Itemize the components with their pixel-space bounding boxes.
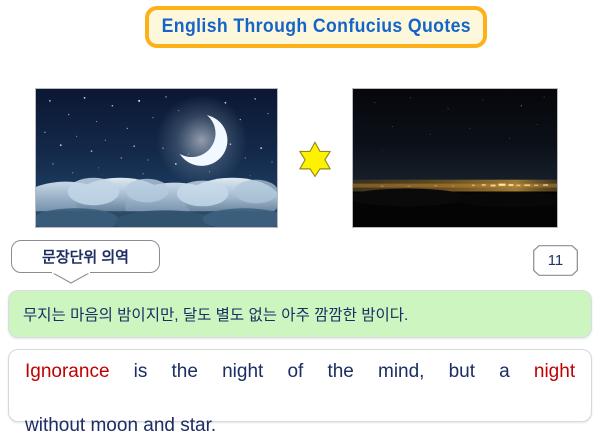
page-title: English Through Confucius Quotes: [161, 16, 470, 38]
dark-night-horizon-photo: [352, 88, 558, 228]
korean-translation-box: 무지는 마음의 밤이지만, 달도 별도 없는 아주 깜깜한 밤이다.: [8, 290, 592, 338]
crescent-moon-over-clouds-photo: [35, 88, 278, 228]
callout-tail-icon: [51, 272, 91, 284]
callout-body: 문장단위 의역: [11, 240, 160, 273]
paraphrase-label-callout: 문장단위 의역: [11, 240, 160, 273]
word-of: of: [287, 361, 303, 382]
page-number-text: 11: [533, 245, 578, 276]
word-mind: mind,: [378, 361, 424, 382]
word-is: is: [134, 361, 148, 382]
word-a: a: [499, 361, 510, 382]
page-number-badge: 11: [533, 245, 578, 276]
page-title-banner: English Through Confucius Quotes: [145, 6, 487, 48]
six-pointed-star-icon: [296, 140, 334, 178]
english-quote-text: Ignorance is the night of the mind, but …: [25, 359, 575, 440]
korean-translation-text: 무지는 마음의 밤이지만, 달도 별도 없는 아주 깜깜한 밤이다.: [9, 303, 422, 325]
highlight-word-night-2: night: [534, 361, 575, 382]
word-the-2: the: [327, 361, 353, 382]
word-night-1: night: [222, 361, 263, 382]
word-but: but: [449, 361, 475, 382]
highlight-word-ignorance: Ignorance: [25, 361, 110, 382]
word-the-1: the: [172, 361, 198, 382]
english-quote-line-1: Ignorance is the night of the mind, but …: [25, 359, 575, 413]
english-quote-box: Ignorance is the night of the mind, but …: [8, 349, 592, 422]
paraphrase-label-text: 문장단위 의역: [42, 246, 129, 267]
english-quote-line-2: without moon and star.: [25, 413, 575, 440]
